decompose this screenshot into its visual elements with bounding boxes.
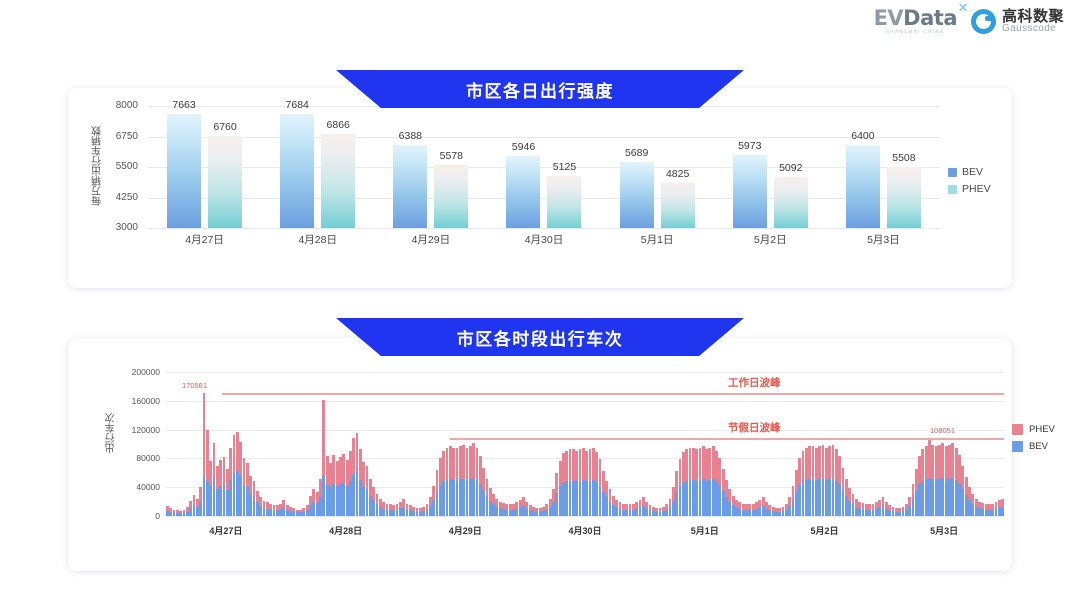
chart1-x-tick: 5月2日 [714, 232, 827, 248]
chart1-bar-phev: 6866 [321, 134, 355, 228]
chart2-y-tick: 40000 [102, 482, 160, 492]
chart1-y-tick: 8000 [92, 100, 138, 111]
chart2-y-tick: 0 [102, 511, 160, 521]
gausscode-name-en: Gausscode [1002, 24, 1064, 35]
chart1-gridline [148, 228, 940, 229]
chart1-bar-value: 5125 [553, 161, 576, 173]
chart1-legend-item[interactable]: BEV [948, 166, 991, 178]
chart1-bar-phev: 6760 [208, 136, 242, 228]
chart2-peak-value-2: 108051 [930, 426, 955, 435]
chart1-bar-group: 59735092 [714, 106, 827, 228]
chart1-bar-value: 6760 [213, 121, 236, 133]
evdata-logo: EVData✕ SHANGHAI CHINA [874, 8, 957, 35]
chart1-bar-bev: 7684 [280, 114, 314, 228]
chart2-y-tick: 80000 [102, 453, 160, 463]
chart2-legend-label: PHEV [1029, 424, 1055, 435]
chart1-bar-group: 59465125 [487, 106, 600, 228]
page-header: EVData✕ SHANGHAI CHINA 高科数聚 Gausscode [0, 0, 1080, 52]
chart1-x-tick: 4月28日 [261, 232, 374, 248]
chart1-legend-label: BEV [962, 166, 983, 178]
chart1-bar-value: 5578 [440, 150, 463, 162]
chart1-bar-value: 7684 [286, 99, 309, 111]
evdata-logo-wordmark: EVData✕ [874, 8, 957, 29]
chart1-bar-bev: 6400 [846, 145, 880, 228]
chart1-bar-value: 6388 [399, 130, 422, 142]
evdata-logo-ev: EV [874, 6, 904, 30]
chart1-panel: 每万辆出行车辆数 30004250550067508000 7663676076… [68, 88, 1012, 288]
gausscode-mark-icon [971, 9, 996, 34]
chart2-x-tick: 4月27日 [166, 524, 286, 538]
chart1-legend-item[interactable]: PHEV [948, 183, 991, 195]
chart1-bar-bev: 5973 [733, 155, 767, 228]
chart1-bar-value: 6866 [327, 119, 350, 131]
evdata-logo-subtitle: SHANGHAI CHINA [886, 31, 944, 35]
chart2-legend-label: BEV [1029, 441, 1048, 452]
chart2-y-tick: 200000 [102, 367, 160, 377]
chart1-x-tick: 4月27日 [148, 232, 261, 248]
chart1-y-tick: 6750 [92, 131, 138, 142]
chart2-gridline [166, 516, 1004, 517]
chart2-holiday-reference-line [450, 438, 1004, 440]
chart1-x-tick: 4月29日 [374, 232, 487, 248]
chart2-holiday-peak-annotation: 节假日波峰 [728, 420, 781, 435]
chart1-bar-bev: 7663 [167, 114, 201, 228]
chart1-bar-value: 5973 [738, 140, 761, 152]
chart2-legend-item[interactable]: BEV [1012, 441, 1055, 452]
chart1-y-tick: 4250 [92, 192, 138, 203]
chart1-bar-value: 7663 [172, 99, 195, 111]
chart2-weekday-reference-line [222, 393, 1004, 395]
logo-group: EVData✕ SHANGHAI CHINA 高科数聚 Gausscode [874, 8, 1064, 35]
chart2-x-axis-labels: 4月27日4月28日4月29日4月30日5月1日5月2日5月3日 [166, 524, 1004, 538]
chart1-x-tick: 5月1日 [601, 232, 714, 248]
chart2-x-tick: 4月29日 [405, 524, 525, 538]
chart1-bar-group: 63885578 [374, 106, 487, 228]
chart2-x-tick: 5月3日 [884, 524, 1004, 538]
chart1-bar-value: 6400 [851, 130, 874, 142]
chart1-bar-group: 76846866 [261, 106, 374, 228]
chart1-bar-value: 5689 [625, 147, 648, 159]
chart2-weekday-peak-annotation: 工作日波峰 [728, 375, 781, 390]
chart2-y-tick: 120000 [102, 425, 160, 435]
chart2-legend: PHEVBEV [1012, 424, 1055, 452]
chart1-legend-swatch [948, 185, 957, 194]
chart2-x-tick: 4月30日 [525, 524, 645, 538]
chart2-x-tick: 5月1日 [645, 524, 765, 538]
chart2-legend-swatch [1012, 424, 1023, 435]
chart1-bar-bev: 6388 [393, 145, 427, 228]
chart1-legend: BEVPHEV [948, 166, 991, 195]
chart1-y-tick: 3000 [92, 222, 138, 233]
chart1-bar-phev: 5578 [434, 165, 468, 228]
chart1-bar-group: 76636760 [148, 106, 261, 228]
chart2: 出行车次 04000080000120000160000200000 工作日波峰… [68, 338, 1012, 571]
chart1-title-banner: 市区各日出行强度 [336, 70, 744, 108]
chart1-y-tick: 5500 [92, 161, 138, 172]
chart1-bar-phev: 5125 [547, 176, 581, 228]
chart1-plot-area: 7663676076846866638855785946512556894825… [148, 106, 940, 228]
chart2-legend-item[interactable]: PHEV [1012, 424, 1055, 435]
chart2-bar-segment-phev [1001, 499, 1004, 507]
chart1: 每万辆出行车辆数 30004250550067508000 7663676076… [68, 88, 1012, 288]
evdata-logo-x-icon: ✕ [958, 2, 968, 15]
chart2-peak-value-1: 170581 [182, 381, 207, 390]
chart1-bar-value: 5092 [779, 162, 802, 174]
chart1-legend-swatch [948, 168, 957, 177]
chart2-x-tick: 4月28日 [286, 524, 406, 538]
chart1-bar-group: 64005508 [827, 106, 940, 228]
gausscode-logo: 高科数聚 Gausscode [971, 9, 1064, 35]
chart1-bar-phev: 5508 [887, 167, 921, 228]
chart1-x-tick: 5月3日 [827, 232, 940, 248]
chart2-legend-swatch [1012, 441, 1023, 452]
chart1-bar-phev: 5092 [774, 177, 808, 228]
chart2-panel: 出行车次 04000080000120000160000200000 工作日波峰… [68, 338, 1012, 571]
chart2-title-banner: 市区各时段出行车次 [336, 318, 744, 356]
chart1-bar-value: 4825 [666, 168, 689, 180]
chart1-x-tick: 4月30日 [487, 232, 600, 248]
gausscode-text: 高科数聚 Gausscode [1002, 9, 1064, 35]
chart1-bar-value: 5508 [892, 152, 915, 164]
chart1-bar-bev: 5689 [620, 162, 654, 228]
chart1-bar-bev: 5946 [506, 156, 540, 228]
chart2-plot-area: 工作日波峰 节假日波峰 170581 108051 [166, 372, 1004, 516]
chart2-y-tick: 160000 [102, 396, 160, 406]
gausscode-name-cn: 高科数聚 [1002, 9, 1064, 25]
chart1-bar-groups: 7663676076846866638855785946512556894825… [148, 106, 940, 228]
chart1-x-axis-labels: 4月27日4月28日4月29日4月30日5月1日5月2日5月3日 [148, 232, 940, 248]
chart1-bar-group: 56894825 [601, 106, 714, 228]
chart2-x-tick: 5月2日 [765, 524, 885, 538]
chart1-bar-value: 5946 [512, 141, 535, 153]
chart1-legend-label: PHEV [962, 183, 991, 195]
evdata-logo-data: Data [903, 6, 957, 30]
chart2-bar-segment-bev [1001, 507, 1004, 516]
chart1-bar-phev: 4825 [661, 183, 695, 228]
